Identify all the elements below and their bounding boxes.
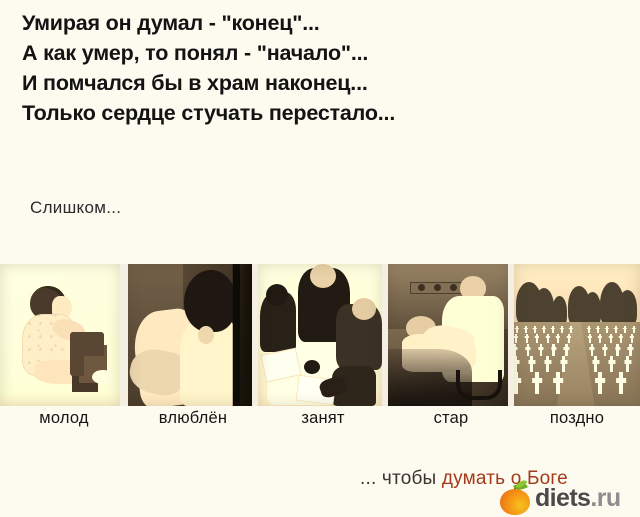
cemetery-cross [620,334,622,343]
poem-block: Умирая он думал - "конец"... А как умер,… [22,8,622,128]
footer-prefix-text: ... чтобы [360,468,442,489]
cemetery-cross [624,326,626,333]
cemetery-cross [525,326,527,333]
poem-line-4: Только сердце стучать перестало... [22,98,622,128]
cemetery-cross [543,326,545,333]
photo-panel-too-late [514,264,640,406]
cemetery-cross [547,334,549,343]
photo-captions: молод влюблён занят стар поздно [0,409,640,435]
cemetery-cross [552,326,554,333]
cemetery-cross [514,356,517,372]
poem-line-2: А как умер, то понял - "начало"... [22,38,622,68]
cemetery-cross [514,372,518,394]
cemetery-tree [534,288,554,326]
too-label: Слишком... [30,198,121,218]
scene-couple-embrace [128,264,252,406]
cemetery-cross [633,326,635,333]
cemetery-cross [610,334,612,343]
photo-panel-in-love [128,264,252,406]
scene-doctor-and-patient [388,264,508,406]
poem-line-1: Умирая он думал - "конец"... [22,8,622,38]
cemetery-cross [552,344,554,356]
cemetery-cross [599,334,601,343]
caption-too-late: поздно [514,409,640,428]
cemetery-cross [516,326,518,333]
watermark-site-name: diets [535,484,590,512]
cemetery-cross [629,344,631,356]
cemetery-cross [534,326,536,333]
peach-fruit-icon [498,481,532,515]
cemetery-cross [591,344,593,356]
watermark-tld: .ru [590,484,620,512]
cemetery-tree [618,290,637,326]
scene-child-playing [0,264,120,406]
caption-in-love: влюблён [128,409,258,428]
caption-busy: занят [258,409,388,428]
cemetery-cross [619,372,623,394]
cemetery-cross [598,372,602,394]
cemetery-cross [594,356,597,372]
cemetery-cross [588,326,590,333]
cemetery-cross [515,334,517,343]
cemetery-cross [527,344,529,356]
cemetery-cross [526,334,528,343]
cemetery-cross [604,344,606,356]
caption-old: стар [388,409,514,428]
cemetery-cross [626,356,629,372]
cemetery-cross [610,356,613,372]
cemetery-cross [546,356,549,372]
cemetery-cross [540,344,542,356]
cemetery-cross [561,326,563,333]
watermark-text: diets.ru [535,486,621,511]
cemetery-cross [616,344,618,356]
cemetery-cross [615,326,617,333]
watermark: diets.ru [498,481,621,515]
cemetery-cross [570,326,572,333]
cemetery-cross [631,334,633,343]
scene-cemetery [514,264,640,406]
photo-panel-young [0,264,120,406]
caption-young: молод [0,409,128,428]
photo-strip [0,264,640,406]
cemetery-cross [562,356,565,372]
poem-line-3: И помчался бы в храм наконец... [22,68,622,98]
cemetery-cross [530,356,533,372]
cemetery-cross [597,326,599,333]
cemetery-cross [557,334,559,343]
photo-panel-busy [258,264,382,406]
cemetery-cross [535,372,539,394]
cemetery-cross [589,334,591,343]
cemetery-cross [568,334,570,343]
poster-canvas: Умирая он думал - "конец"... А как умер,… [0,0,640,517]
cemetery-tree [584,292,601,326]
photo-panel-old [388,264,508,406]
scene-office-meeting [258,264,382,406]
cemetery-cross [536,334,538,343]
cemetery-cross [556,372,560,394]
cemetery-cross [514,344,516,356]
cemetery-cross [565,344,567,356]
cemetery-cross [606,326,608,333]
